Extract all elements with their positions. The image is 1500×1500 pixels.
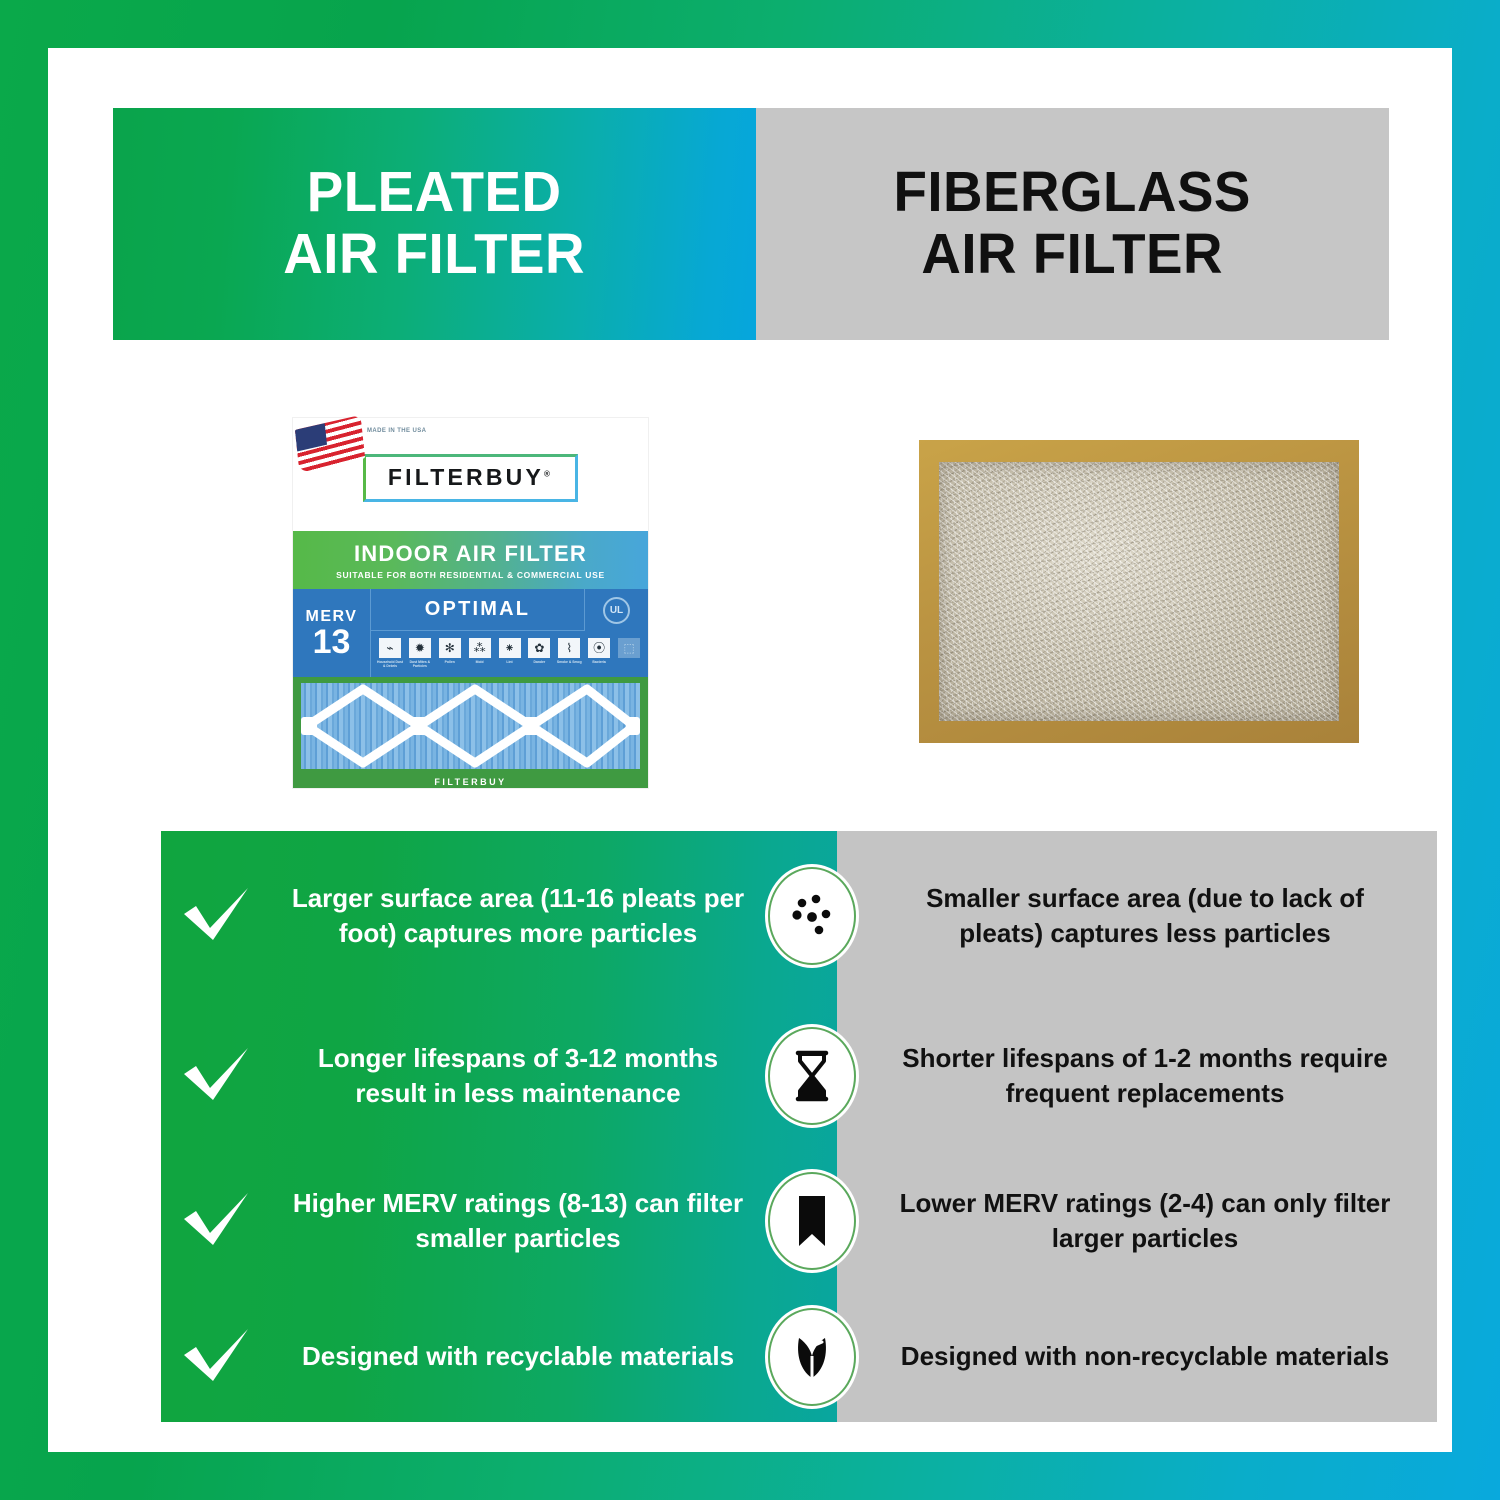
band-title: INDOOR AIR FILTER xyxy=(354,541,587,567)
feature-tile-caption: Bacteria xyxy=(592,660,605,664)
particles-icon xyxy=(786,887,838,945)
filterbuy-logo: FILTERBUY® xyxy=(363,454,578,502)
row-icon-badge xyxy=(768,867,856,965)
bacteria-icon: ⦿ xyxy=(588,638,610,658)
pleated-benefit-text: Longer lifespans of 3-12 months result i… xyxy=(273,1041,763,1110)
comparison-row: Higher MERV ratings (8-13) can filter sm… xyxy=(161,1151,1437,1291)
checkmark-icon xyxy=(180,1189,254,1253)
pollen-icon: ✻ xyxy=(439,638,461,658)
tier-label: OPTIMAL xyxy=(425,598,530,621)
feature-tile: ⦿Bacteria xyxy=(586,638,612,670)
checkmark-icon xyxy=(180,884,254,948)
comparison-row: Larger surface area (11-16 pleats per fo… xyxy=(161,831,1437,1001)
fiberglass-mesh-media xyxy=(939,462,1339,721)
hourglass-icon xyxy=(786,1047,838,1105)
fiberglass-drawback-text: Smaller surface area (due to lack of ple… xyxy=(861,881,1437,950)
header-fiberglass-line1: FIBERGLASS xyxy=(894,160,1251,224)
header-pleated-line2: AIR FILTER xyxy=(284,222,586,286)
checkmark-icon xyxy=(180,1325,254,1389)
checkmark-cell xyxy=(161,1189,273,1253)
feature-tile-caption: Lint xyxy=(506,660,512,664)
smoke-icon: ⌇ xyxy=(558,638,580,658)
comparison-row: Designed with recyclable materialsDesign… xyxy=(161,1291,1437,1422)
support-wire-overlay xyxy=(301,683,640,769)
pleated-filter-product-image: MADE IN THE USA FILTERBUY® INDOOR AIR FI… xyxy=(293,418,648,788)
usa-flag-icon xyxy=(295,415,365,473)
header-pleated: PLEATED AIR FILTER xyxy=(113,108,756,340)
ul-certification-icon: UL xyxy=(603,597,630,624)
feature-tile: ⁕Lint xyxy=(497,638,523,670)
checkmark-cell xyxy=(161,884,273,948)
pleated-benefit-text: Designed with recyclable materials xyxy=(273,1339,763,1374)
disabled-tile-icon: ⬚ xyxy=(618,638,640,658)
checkmark-cell xyxy=(161,1044,273,1108)
certification-cell: UL xyxy=(585,589,648,631)
pleated-benefit-text: Higher MERV ratings (8-13) can filter sm… xyxy=(273,1186,763,1255)
comparison-rows: Larger surface area (11-16 pleats per fo… xyxy=(161,831,1437,1422)
feature-tile-caption: Mold xyxy=(476,660,484,664)
feature-tile: ⬚ xyxy=(616,638,642,670)
blue-pleat-media xyxy=(301,683,640,769)
row-icon-cell xyxy=(763,1308,861,1406)
comparison-table: Larger surface area (11-16 pleats per fo… xyxy=(161,831,1437,1422)
feature-tile: ⌁Household Dust & Debris xyxy=(377,638,403,670)
row-icon-badge xyxy=(768,1308,856,1406)
checkmark-cell xyxy=(161,1325,273,1389)
tier-cell: OPTIMAL xyxy=(371,589,585,631)
fiberglass-filter-product-image xyxy=(919,440,1359,743)
comparison-row: Longer lifespans of 3-12 months result i… xyxy=(161,1001,1437,1151)
dust-mite-icon: ✹ xyxy=(409,638,431,658)
bookmark-icon xyxy=(786,1192,838,1250)
leaf-eco-icon xyxy=(786,1328,838,1386)
header-pleated-title: PLEATED AIR FILTER xyxy=(284,162,586,285)
pleated-media-section: FILTERBUY xyxy=(293,677,648,788)
mold-icon: ⁂ xyxy=(469,638,491,658)
feature-tile: ⁂Mold xyxy=(467,638,493,670)
merv-spec-band: MERV 13 OPTIMAL UL ⌁Household Dust & Deb… xyxy=(293,589,648,677)
fiberglass-drawback-text: Designed with non-recyclable materials xyxy=(861,1339,1437,1374)
header-fiberglass: FIBERGLASS AIR FILTER xyxy=(756,108,1389,340)
row-icon-cell xyxy=(763,867,861,965)
checkmark-icon xyxy=(180,1044,254,1108)
band-subtitle: SUITABLE FOR BOTH RESIDENTIAL & COMMERCI… xyxy=(336,570,605,580)
feature-tile: ✻Pollen xyxy=(437,638,463,670)
fiberglass-drawback-text: Lower MERV ratings (2-4) can only filter… xyxy=(861,1186,1437,1255)
dander-icon: ✿ xyxy=(528,638,550,658)
made-in-usa-label: MADE IN THE USA xyxy=(367,427,426,435)
feature-tile: ✹Dust Mites & Particles xyxy=(407,638,433,670)
header-pleated-line1: PLEATED xyxy=(307,160,562,224)
feature-tile-caption: Dander xyxy=(534,660,546,664)
row-icon-cell xyxy=(763,1172,861,1270)
pleat-brand-label: FILTERBUY xyxy=(293,777,648,787)
pleated-box-top-section: MADE IN THE USA FILTERBUY® xyxy=(293,418,648,531)
row-icon-badge xyxy=(768,1027,856,1125)
feature-tile: ✿Dander xyxy=(526,638,552,670)
infographic-card: PLEATED AIR FILTER FIBERGLASS AIR FILTER… xyxy=(48,48,1452,1452)
brand-name: FILTERBUY xyxy=(388,464,544,490)
feature-tile-caption: Pollen xyxy=(445,660,455,664)
indoor-air-filter-band: INDOOR AIR FILTER SUITABLE FOR BOTH RESI… xyxy=(293,531,648,589)
feature-tile-caption: Smoke & Smog xyxy=(557,660,582,664)
filterbuy-logo-text: FILTERBUY® xyxy=(388,464,553,491)
vacuum-icon: ⌁ xyxy=(379,638,401,658)
merv-value: 13 xyxy=(313,626,351,658)
feature-tile-caption: Dust Mites & Particles xyxy=(407,660,433,669)
header-row: PLEATED AIR FILTER FIBERGLASS AIR FILTER xyxy=(113,108,1389,340)
row-icon-cell xyxy=(763,1027,861,1125)
pleated-benefit-text: Larger surface area (11-16 pleats per fo… xyxy=(273,881,763,950)
feature-icon-tiles: ⌁Household Dust & Debris✹Dust Mites & Pa… xyxy=(371,631,648,677)
merv-badge: MERV 13 xyxy=(293,589,371,677)
feature-tile: ⌇Smoke & Smog xyxy=(556,638,582,670)
outer-gradient-border: PLEATED AIR FILTER FIBERGLASS AIR FILTER… xyxy=(0,0,1500,1500)
header-fiberglass-line2: AIR FILTER xyxy=(922,222,1224,286)
row-icon-badge xyxy=(768,1172,856,1270)
product-images-band: MADE IN THE USA FILTERBUY® INDOOR AIR FI… xyxy=(113,348,1389,778)
lint-icon: ⁕ xyxy=(499,638,521,658)
header-fiberglass-title: FIBERGLASS AIR FILTER xyxy=(894,162,1251,285)
fiberglass-drawback-text: Shorter lifespans of 1-2 months require … xyxy=(861,1041,1437,1110)
feature-tile-caption: Household Dust & Debris xyxy=(377,660,403,669)
registered-mark: ® xyxy=(544,469,553,478)
